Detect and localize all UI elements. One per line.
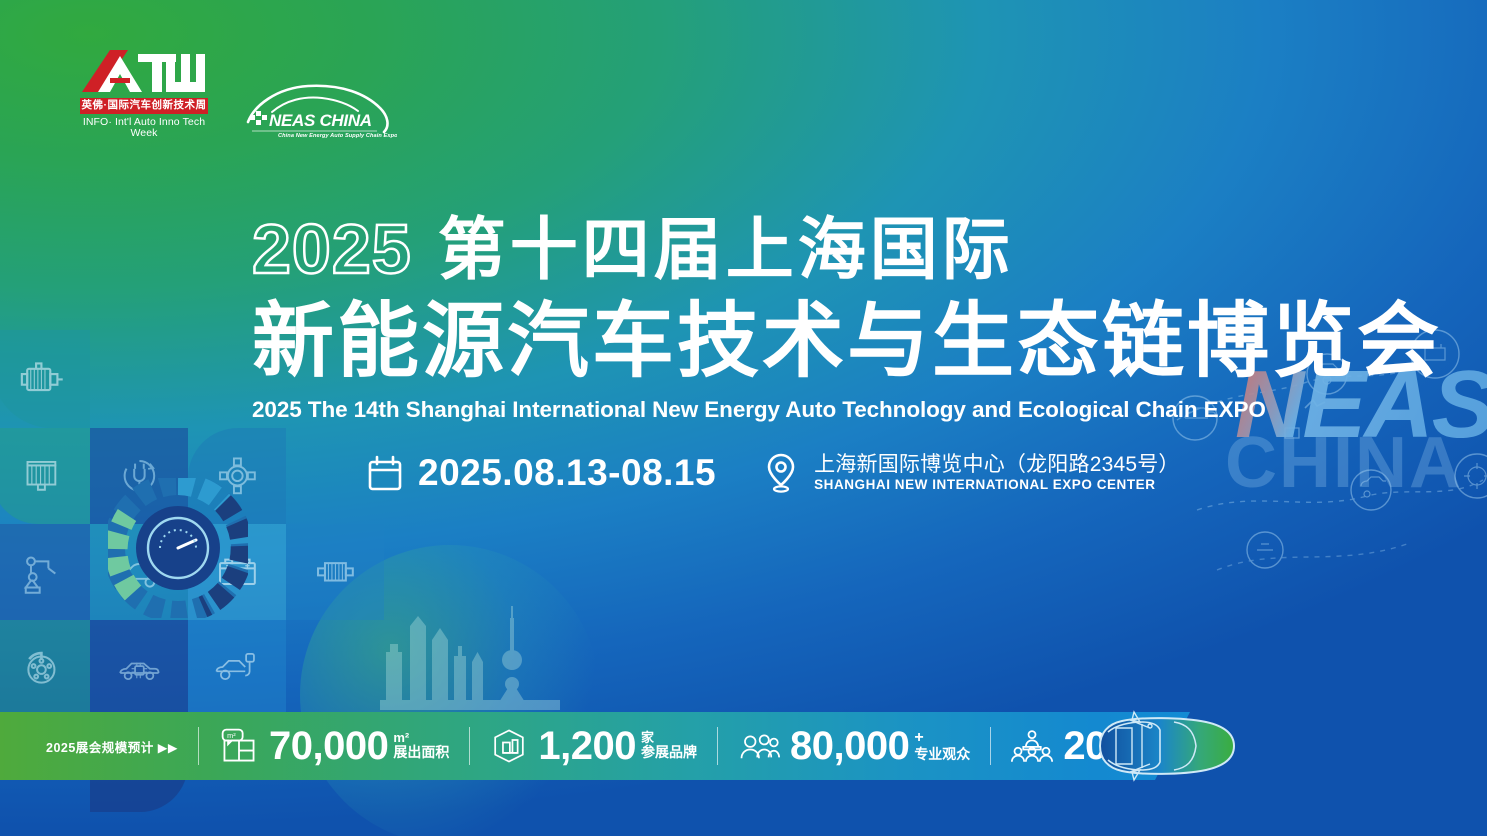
atw-logo-caption-en: INFO· Int'l Auto Inno Tech Week [80,117,208,140]
stat-area-value: 70,000 m² 展出面积 [269,726,449,766]
atw-mark-icon [80,48,208,96]
ev-charging-icon [209,640,266,696]
stat-brands-value: 1,200 家 参展品牌 [538,726,697,766]
stat-events-suffix: 场 同期活动 [1112,731,1168,761]
stat-events-value: 20 场 同期活动 [1063,726,1168,766]
atw-logo[interactable]: 英佛·国际汽车创新技术周 INFO· Int'l Auto Inno Tech … [80,48,208,140]
stat-events-unit: 场 [1112,731,1168,746]
headline-block: 2025 第十四届上海国际 新能源汽车技术与生态链博览会 2025 The 14… [252,214,1372,423]
stat-visitors-number: 80,000 [790,726,909,766]
stat-brands-suffix: 家 参展品牌 [641,731,697,761]
stats-divider [990,727,991,765]
chip-car-icon [111,640,168,696]
stat-area-label: 展出面积 [393,745,449,761]
stat-item-visitors: 80,000 + 专业观众 [738,726,970,766]
event-venue-texts: 上海新国际博览中心（龙阳路2345号） SHANGHAI NEW INTERNA… [814,453,1180,493]
mosaic-tile-charge-plug [90,428,188,524]
shanghai-skyline [380,600,560,710]
stats-divider [469,727,470,765]
calendar-icon [368,455,402,491]
headline-subtitle-en: 2025 The 14th Shanghai International New… [252,397,1372,423]
location-pin-icon [764,452,798,494]
stats-bar: 2025展会规模预计 ▶▶ m² 70,000 m² 展出面积 [0,712,1190,780]
motor-icon [13,351,70,408]
floorplan-icon: m² [219,726,259,766]
svg-text:China New Energy Auto Supply C: China New Energy Auto Supply Chain Expo [278,133,397,139]
headline-year: 2025 [252,214,412,284]
mosaic-tile-car-side [90,524,188,620]
stat-visitors-suffix: + 专业观众 [914,729,970,763]
bearing-icon [209,448,266,504]
stat-brands-unit: 家 [641,731,697,746]
stat-brands-label: 参展品牌 [641,745,697,761]
headline-row-1: 2025 第十四届上海国际 [252,214,1372,292]
mosaic-tile-robot-arm [0,524,90,620]
event-meta: 2025.08.13-08.15 上海新国际博览中心（龙阳路2345号） SHA… [368,452,1180,494]
watermark-china-text: CHINA [1225,422,1463,504]
booth-icon [490,727,528,765]
headline-line2-cn: 新能源汽车技术与生态链博览会 [252,298,1372,387]
mosaic-tile-brake-disc [0,620,90,716]
event-venue-cn: 上海新国际博览中心（龙阳路2345号） [814,453,1180,477]
headline-line1-cn: 第十四届上海国际 [438,216,1014,284]
stat-events-label: 同期活动 [1112,745,1168,761]
brake-disc-icon [13,640,70,696]
neas-logo[interactable]: NEAS CHINA China New Energy Auto Supply … [242,78,397,140]
skyline-glow [300,545,600,836]
stat-area-unit: m² [393,731,449,746]
charge-plug-icon [111,448,168,504]
neas-mark-icon: NEAS CHINA China New Energy Auto Supply … [242,78,397,140]
stat-events-number: 20 [1063,726,1107,766]
icon-mosaic [0,418,412,718]
atw-logo-mark [80,48,208,96]
stat-area-number: 70,000 [269,726,388,766]
event-venue: 上海新国际博览中心（龙阳路2345号） SHANGHAI NEW INTERNA… [764,452,1180,494]
stats-lead-label: 2025展会规模预计 ▶▶ [46,737,178,756]
stator-icon [307,544,364,600]
stat-area-suffix: m² 展出面积 [393,731,449,761]
mosaic-tile-ev-charging [188,620,286,716]
mosaic-tile-stator [286,524,384,620]
stat-item-events: 20 场 同期活动 [1011,726,1168,766]
stat-visitors-value: 80,000 + 专业观众 [790,726,970,766]
logo-group: 英佛·国际汽车创新技术周 INFO· Int'l Auto Inno Tech … [80,48,397,140]
event-venue-en: SHANGHAI NEW INTERNATIONAL EXPO CENTER [814,477,1180,493]
gear-gauge-emblem [108,478,248,618]
svg-text:NEAS CHINA: NEAS CHINA [269,111,372,130]
battery-icon [209,544,266,600]
stat-visitors-label: 专业观众 [914,747,970,763]
visitors-icon [738,729,780,763]
stat-brands-number: 1,200 [538,726,636,766]
stats-divider [717,727,718,765]
mosaic-tile-battery [188,524,286,620]
event-date: 2025.08.13-08.15 [368,452,716,494]
gear-gauge-icon [108,478,248,618]
atw-logo-banner-cn: 英佛·国际汽车创新技术周 [80,98,208,114]
car-side-icon [111,544,168,600]
speaker-icon [1011,728,1053,764]
mosaic-tile-bearing [188,428,286,524]
robot-arm-icon [13,544,70,600]
banner-canvas: CHINA NEAS 英佛·国际汽车创新技术周 INFO· Int'l Auto… [0,0,1487,836]
event-date-text: 2025.08.13-08.15 [418,452,716,494]
mosaic-tile-radiator [0,428,90,524]
mosaic-tile-chip-car [90,620,188,716]
stat-item-brands: 1,200 家 参展品牌 [490,726,697,766]
stats-divider [198,727,199,765]
stat-item-area: m² 70,000 m² 展出面积 [219,726,449,766]
svg-text:m²: m² [227,731,236,740]
mosaic-tile-motor [0,330,90,428]
stats-inner: 2025展会规模预计 ▶▶ m² 70,000 m² 展出面积 [0,712,1168,780]
stat-visitors-plus: + [914,729,970,747]
radiator-icon [13,448,70,504]
skyline-icon [380,600,560,710]
